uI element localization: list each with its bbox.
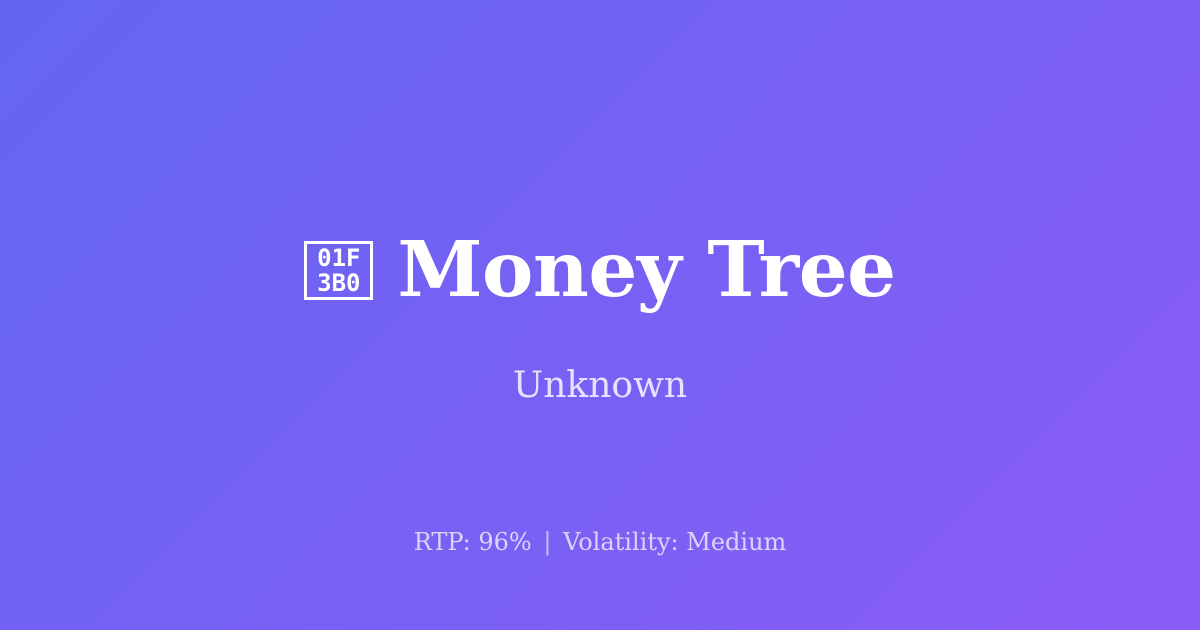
provider-subtitle: Unknown	[0, 364, 1200, 407]
volatility-stat: Volatility: Medium	[563, 528, 786, 556]
codepoint-hex-upper: 01F	[317, 246, 360, 271]
codepoint-hex-lower: 3B0	[317, 271, 360, 296]
rtp-stat: RTP: 96%	[414, 528, 532, 556]
stat-separator: |	[539, 528, 555, 556]
game-share-card: 01F 3B0 Money Tree Unknown RTP: 96% | Vo…	[0, 0, 1200, 630]
title-row: 01F 3B0 Money Tree	[0, 232, 1200, 309]
slot-machine-icon: 01F 3B0	[304, 241, 373, 300]
page-title: Money Tree	[397, 232, 895, 309]
game-stats-line: RTP: 96% | Volatility: Medium	[0, 527, 1200, 558]
